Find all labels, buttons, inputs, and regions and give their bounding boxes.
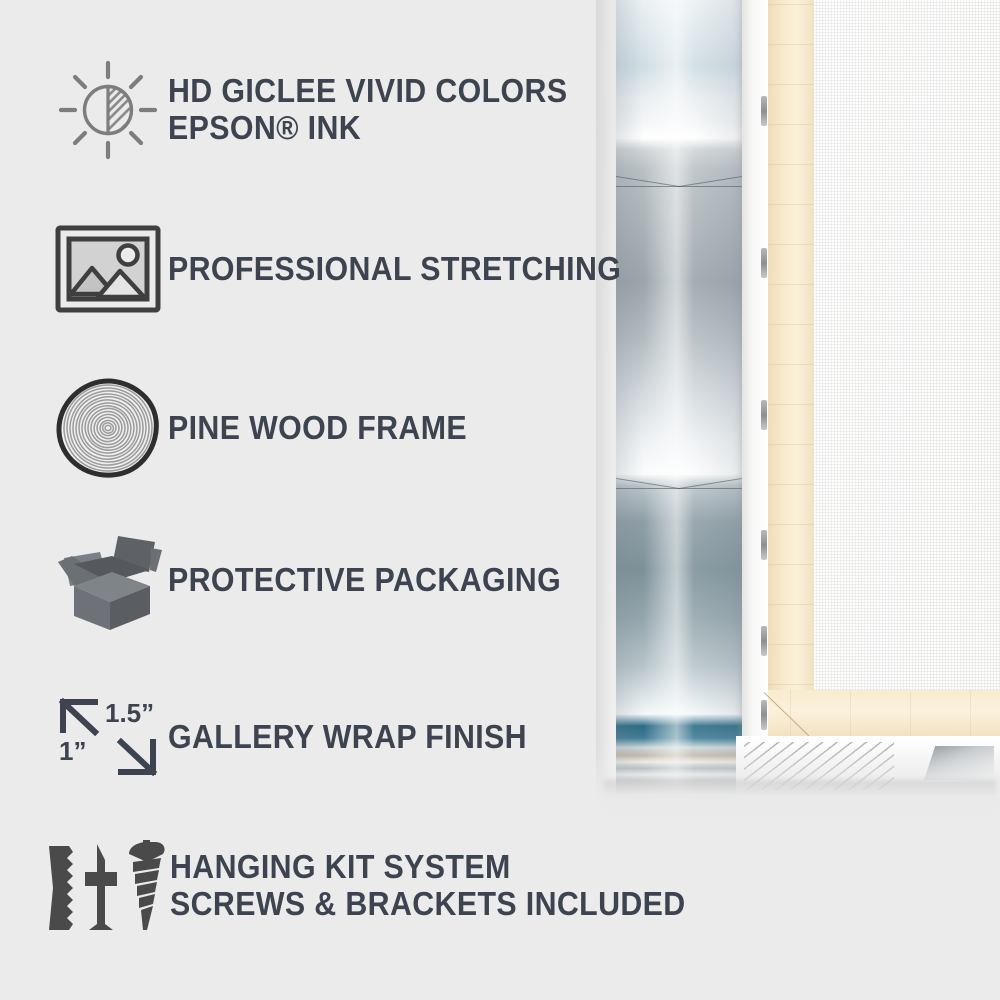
feature-label: PROTECTIVE PACKAGING xyxy=(168,562,561,599)
open-box-icon xyxy=(52,528,164,632)
feature-label-line: HD GICLEE VIVID COLORS xyxy=(168,73,567,110)
feature-label-line: EPSON® INK xyxy=(168,110,567,147)
feature-label: HANGING KIT SYSTEM SCREWS & BRACKETS INC… xyxy=(170,849,686,923)
bracket-icon xyxy=(49,846,73,930)
icon-container xyxy=(48,58,168,162)
icon-container xyxy=(40,838,170,934)
feature-label: GALLERY WRAP FINISH xyxy=(168,719,527,756)
infographic-canvas: HD GICLEE VIVID COLORS EPSON® INK PROFES… xyxy=(0,0,1000,1000)
framed-picture-icon xyxy=(54,222,162,316)
screw-icon xyxy=(129,840,165,930)
feature-row-hd-giclee: HD GICLEE VIVID COLORS EPSON® INK xyxy=(48,58,602,162)
icon-container xyxy=(48,222,168,316)
wrap-depth-top-label: 1.5” xyxy=(105,698,154,729)
hanging-hardware-icon xyxy=(43,838,167,934)
feature-label-line: HANGING KIT SYSTEM xyxy=(170,849,686,886)
icon-container: 1.5” 1” xyxy=(48,692,168,782)
feature-label: PROFESSIONAL STRETCHING xyxy=(168,251,621,288)
icon-container xyxy=(48,528,168,632)
feature-label-line: PROTECTIVE PACKAGING xyxy=(168,562,561,599)
nail-icon xyxy=(85,844,117,930)
feature-row-hanging-kit: HANGING KIT SYSTEM SCREWS & BRACKETS INC… xyxy=(40,838,730,934)
feature-label: HD GICLEE VIVID COLORS EPSON® INK xyxy=(168,73,567,147)
gallery-wrap-arrows-icon: 1.5” 1” xyxy=(49,692,167,782)
feature-list: HD GICLEE VIVID COLORS EPSON® INK PROFES… xyxy=(0,0,640,1000)
feature-label-line: PROFESSIONAL STRETCHING xyxy=(168,251,621,288)
feature-row-professional-stretching: PROFESSIONAL STRETCHING xyxy=(48,222,661,316)
wood-rings-icon xyxy=(55,378,161,478)
wrap-depth-bottom-label: 1” xyxy=(59,736,86,767)
feature-row-protective-packaging: PROTECTIVE PACKAGING xyxy=(48,528,595,632)
sun-icon xyxy=(56,58,160,162)
canvas-print-back-corner-photo xyxy=(596,0,1000,800)
feature-row-gallery-wrap-finish: 1.5” 1” GALLERY WRAP FINISH xyxy=(48,692,558,782)
feature-row-pine-wood-frame: PINE WOOD FRAME xyxy=(48,378,493,478)
photo-bottom-fade xyxy=(596,0,1000,800)
product-drop-shadow xyxy=(604,780,996,814)
icon-container xyxy=(48,378,168,478)
feature-label-line: GALLERY WRAP FINISH xyxy=(168,719,527,756)
feature-label-line: PINE WOOD FRAME xyxy=(168,410,467,447)
feature-label-line: SCREWS & BRACKETS INCLUDED xyxy=(170,886,686,923)
feature-label: PINE WOOD FRAME xyxy=(168,410,467,447)
